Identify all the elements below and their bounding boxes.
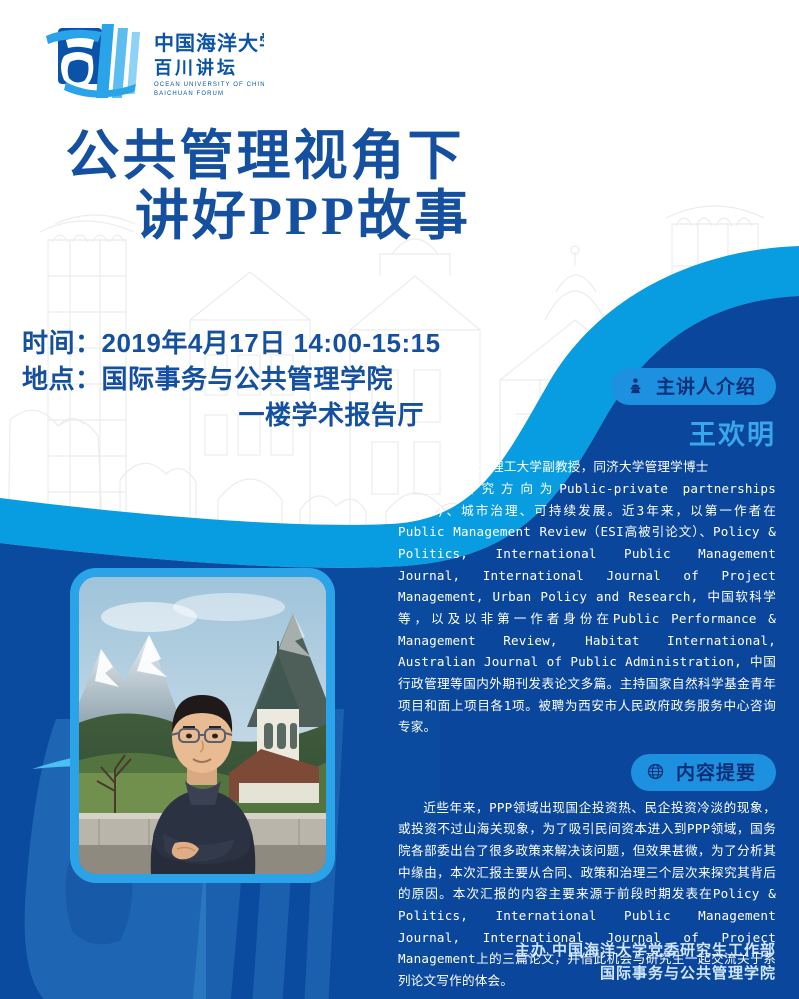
content-badge-row: 内容提要: [398, 754, 776, 791]
content-summary-badge[interactable]: 内容提要: [631, 754, 776, 791]
svg-text:百川讲坛: 百川讲坛: [154, 57, 238, 78]
speaker-intro-badge[interactable]: 主讲人介绍: [611, 368, 776, 405]
globe-icon: [647, 763, 664, 786]
speaker-lead-line: 大连理工大学副教授，同济大学管理学博士: [398, 456, 776, 478]
speaker-badge-row: 主讲人介绍: [398, 368, 776, 405]
organizer-line-2: 国际事务与公共管理学院: [398, 963, 776, 986]
event-time: 时间：2019年4月17日 14:00-15:15: [22, 326, 492, 362]
poster-root: 中国海洋大学 百川讲坛 OCEAN UNIVERSITY OF CHINA BA…: [0, 0, 799, 999]
poster-title: 公共管理视角下 讲好PPP故事: [0, 126, 520, 247]
content-summary-badge-label: 内容提要: [676, 758, 756, 785]
svg-text:中国海洋大学: 中国海洋大学: [154, 31, 264, 55]
title-line-2: 讲好PPP故事: [0, 186, 520, 246]
svg-text:BAICHUAN FORUM: BAICHUAN FORUM: [154, 91, 224, 97]
organizer-block: 主办 中国海洋大学党委研究生工作部 国际事务与公共管理学院: [398, 940, 776, 985]
speaker-intro-badge-label: 主讲人介绍: [656, 372, 756, 399]
title-line-1: 公共管理视角下: [0, 126, 520, 186]
speaker-photo-frame: [70, 568, 335, 883]
speaker-photo: [79, 577, 326, 874]
lectern-speaker-icon: [627, 377, 644, 400]
organizer-line-1: 主办 中国海洋大学党委研究生工作部: [398, 940, 776, 963]
right-content-column: 主讲人介绍 王欢明 大连理工大学副教授，同济大学管理学博士 主要研究方向为Pub…: [398, 368, 776, 991]
speaker-bio-block: 大连理工大学副教授，同济大学管理学博士 主要研究方向为Public-privat…: [398, 456, 776, 739]
speaker-bio-text: 主要研究方向为Public-private partnerships (PPPs…: [398, 478, 776, 738]
ouc-baichuan-logo: 中国海洋大学 百川讲坛 OCEAN UNIVERSITY OF CHINA BA…: [44, 22, 264, 102]
speaker-name: 王欢明: [398, 413, 776, 452]
svg-text:OCEAN UNIVERSITY OF CHINA: OCEAN UNIVERSITY OF CHINA: [154, 82, 264, 88]
